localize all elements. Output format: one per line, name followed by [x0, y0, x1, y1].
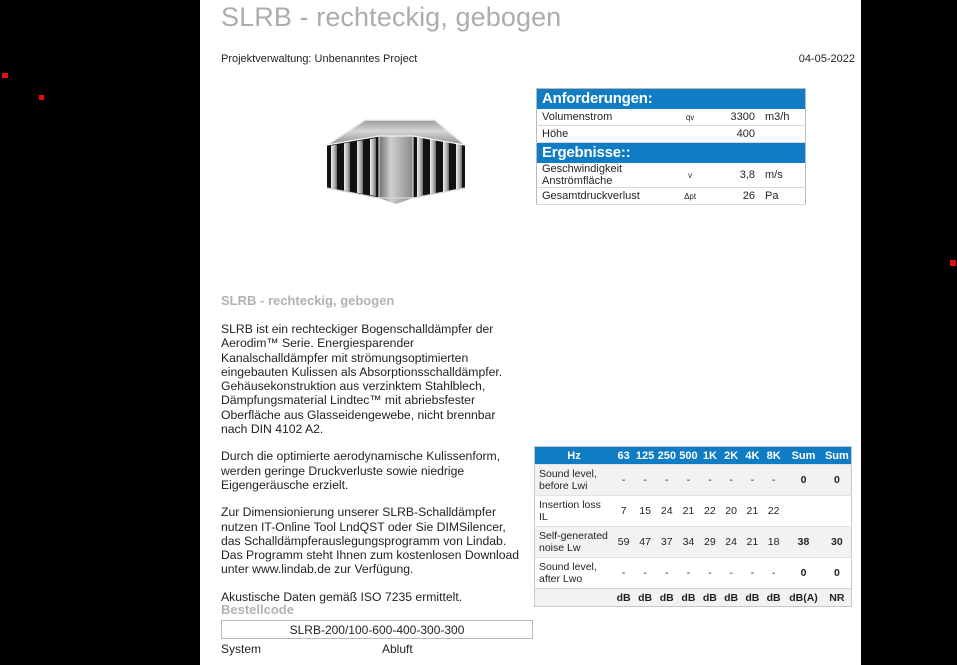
acoustic-cell: 22 — [699, 496, 720, 527]
acoustic-col-header: 250 — [656, 447, 678, 465]
spec-label: Volumenstrom — [537, 109, 669, 126]
acoustic-cell: 29 — [699, 527, 720, 558]
acoustic-cell: 18 — [763, 527, 784, 558]
acoustic-header-row: Hz 63 125 250 500 1K 2K 4K 8K Sum Sum — [535, 447, 852, 465]
project-management-line: Projektverwaltung: Unbenanntes Project — [221, 53, 417, 65]
acoustic-cell: - — [699, 558, 720, 589]
page-title: SLRB - rechteckig, gebogen — [221, 2, 561, 33]
results-heading-row: Ergebnisse:: — [537, 143, 806, 164]
spec-symbol: Δpt — [668, 188, 712, 205]
acoustic-cell-sum — [823, 496, 852, 527]
acoustic-cell: - — [656, 558, 678, 589]
spec-label: Geschwindigkeit Anströmfläche — [537, 163, 669, 188]
acoustic-col-header: 63 — [613, 447, 634, 465]
acoustic-units-cell: dB — [613, 589, 634, 607]
spec-value: 3300 — [712, 109, 760, 126]
acoustic-cell: - — [678, 558, 700, 589]
acoustic-col-header: 2K — [721, 447, 742, 465]
acoustic-cell: 7 — [613, 496, 634, 527]
table-row: Insertion loss IL 7 15 24 21 22 20 21 22 — [535, 496, 852, 527]
acoustic-cell: - — [613, 558, 634, 589]
acoustic-units-cell: dB — [742, 589, 763, 607]
acoustic-col-header: Sum — [784, 447, 822, 465]
acoustic-cell: - — [678, 465, 700, 496]
table-row: Höhe 400 — [537, 126, 806, 143]
table-row: Volumenstrom qv 3300 m3/h — [537, 109, 806, 126]
table-row: Sound level, before Lwi - - - - - - - - … — [535, 465, 852, 496]
acoustic-cell: 24 — [721, 527, 742, 558]
acoustic-data-table: Hz 63 125 250 500 1K 2K 4K 8K Sum Sum So… — [534, 446, 852, 607]
acoustic-units-cell: dB — [656, 589, 678, 607]
system-value: Abluft — [382, 642, 413, 656]
spec-label: Höhe — [537, 126, 669, 143]
acoustic-cell-sum: 0 — [823, 558, 852, 589]
acoustic-cell: 22 — [763, 496, 784, 527]
spec-symbol: qv — [668, 109, 712, 126]
product-illustration — [305, 103, 495, 213]
acoustic-cell: - — [721, 465, 742, 496]
acoustic-col-header: 4K — [742, 447, 763, 465]
acoustic-cell-sum: 0 — [823, 465, 852, 496]
system-label: System — [221, 642, 382, 656]
acoustic-cell: - — [763, 465, 784, 496]
description-paragraph: Zur Dimensionierung unserer SLRB-Schalld… — [221, 505, 521, 576]
acoustic-cell: - — [634, 465, 656, 496]
acoustic-units-cell: dB — [763, 589, 784, 607]
acoustic-cell: - — [721, 558, 742, 589]
table-row: Gesamtdruckverlust Δpt 26 Pa — [537, 188, 806, 205]
cursor-marker-dot — [950, 260, 956, 266]
acoustic-col-header: 125 — [634, 447, 656, 465]
acoustic-cell: 21 — [678, 496, 700, 527]
spec-label: Gesamtdruckverlust — [537, 188, 669, 205]
acoustic-cell: 34 — [678, 527, 700, 558]
order-code-heading: Bestellcode — [221, 602, 294, 617]
spec-unit: m3/h — [760, 109, 806, 126]
acoustic-cell: 15 — [634, 496, 656, 527]
acoustic-cell: 47 — [634, 527, 656, 558]
document-date: 04-05-2022 — [799, 53, 855, 65]
requirements-results-table: Anforderungen: Volumenstrom qv 3300 m3/h… — [536, 88, 806, 205]
spec-value: 3,8 — [712, 163, 760, 188]
table-row: Self-generated noise Lw 59 47 37 34 29 2… — [535, 527, 852, 558]
requirements-heading: Anforderungen: — [537, 89, 806, 110]
acoustic-col-header: 1K — [699, 447, 720, 465]
acoustic-cell-sum: 38 — [784, 527, 822, 558]
acoustic-cell: 21 — [742, 496, 763, 527]
acoustic-cell-sum: 30 — [823, 527, 852, 558]
cursor-marker-dot — [39, 95, 44, 100]
results-heading: Ergebnisse:: — [537, 143, 806, 164]
table-row: Geschwindigkeit Anströmfläche v 3,8 m/s — [537, 163, 806, 188]
acoustic-cell: - — [613, 465, 634, 496]
acoustic-cell: 20 — [721, 496, 742, 527]
acoustic-cell: - — [742, 558, 763, 589]
system-row: System Abluft — [221, 642, 531, 656]
acoustic-col-header: 8K — [763, 447, 784, 465]
acoustic-cell-sum: 0 — [784, 465, 822, 496]
acoustic-units-cell: dB(A) — [784, 589, 822, 607]
spec-unit: Pa — [760, 188, 806, 205]
acoustic-cell: 21 — [742, 527, 763, 558]
acoustic-units-cell: NR — [823, 589, 852, 607]
spec-unit — [760, 126, 806, 143]
acoustic-row-label: Insertion loss IL — [535, 496, 614, 527]
acoustic-cell: - — [742, 465, 763, 496]
acoustic-cell: - — [763, 558, 784, 589]
description-heading: SLRB - rechteckig, gebogen — [221, 293, 394, 308]
acoustic-units-cell: dB — [721, 589, 742, 607]
spec-symbol — [668, 126, 712, 143]
acoustic-units-cell: dB — [678, 589, 700, 607]
acoustic-cell: - — [699, 465, 720, 496]
requirements-heading-row: Anforderungen: — [537, 89, 806, 110]
acoustic-row-label: Sound level, after Lwo — [535, 558, 614, 589]
acoustic-row-label: Sound level, before Lwi — [535, 465, 614, 496]
description-paragraph: SLRB ist ein rechteckiger Bogenschalldäm… — [221, 322, 521, 436]
acoustic-cell: - — [634, 558, 656, 589]
acoustic-col-header: 500 — [678, 447, 700, 465]
acoustic-row-label: Self-generated noise Lw — [535, 527, 614, 558]
table-row: Sound level, after Lwo - - - - - - - - 0… — [535, 558, 852, 589]
description-paragraph: Durch die optimierte aerodynamische Kuli… — [221, 449, 521, 492]
acoustic-units-cell: dB — [699, 589, 720, 607]
acoustic-col-header: Sum — [823, 447, 852, 465]
acoustic-cell: 24 — [656, 496, 678, 527]
spec-value: 26 — [712, 188, 760, 205]
acoustic-cell: 59 — [613, 527, 634, 558]
acoustic-col-header: Hz — [535, 447, 614, 465]
acoustic-units-cell — [535, 589, 614, 607]
acoustic-units-cell: dB — [634, 589, 656, 607]
acoustic-cell: 37 — [656, 527, 678, 558]
acoustic-units-row: dB dB dB dB dB dB dB dB dB(A) NR — [535, 589, 852, 607]
order-code-field[interactable]: SLRB-200/100-600-400-300-300 — [221, 620, 533, 639]
cursor-marker-dot — [2, 73, 8, 78]
description-body: SLRB ist ein rechteckiger Bogenschalldäm… — [221, 322, 521, 617]
document-sheet: SLRB - rechteckig, gebogen Projektverwal… — [200, 0, 861, 665]
spec-unit: m/s — [760, 163, 806, 188]
spec-value: 400 — [712, 126, 760, 143]
acoustic-cell-sum — [784, 496, 822, 527]
acoustic-cell: - — [656, 465, 678, 496]
spec-symbol: v — [668, 163, 712, 188]
acoustic-cell-sum: 0 — [784, 558, 822, 589]
